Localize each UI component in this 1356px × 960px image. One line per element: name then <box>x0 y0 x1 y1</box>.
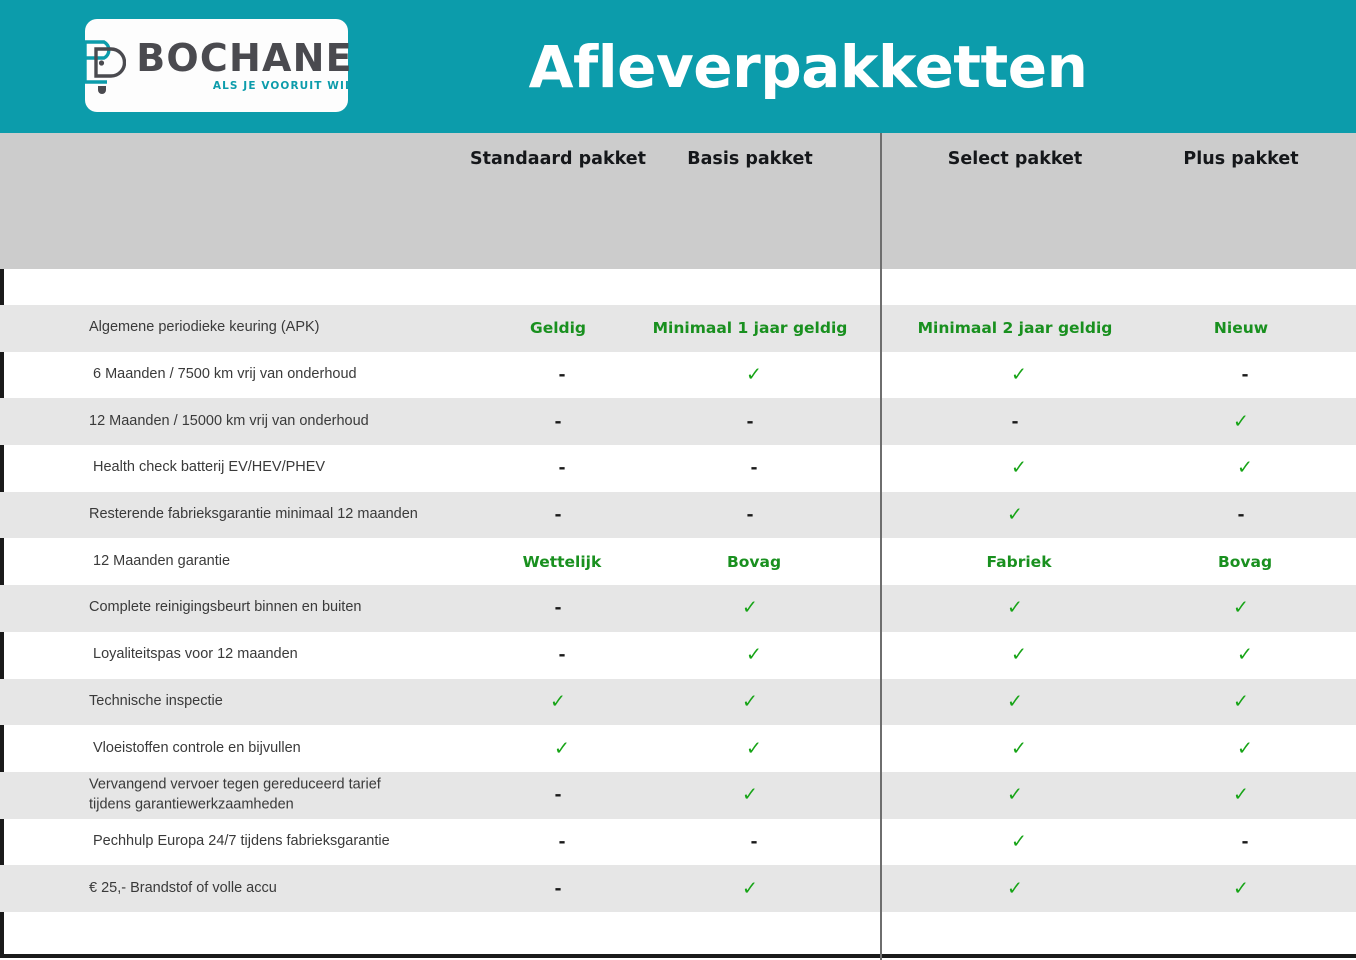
column-header-plus: Plus pakket <box>1130 149 1352 169</box>
check-icon: ✓ <box>646 879 854 898</box>
check-icon: ✓ <box>646 786 854 805</box>
row-label: Resterende fabrieksgarantie minimaal 12 … <box>89 505 418 525</box>
cell-value: Geldig <box>470 319 646 337</box>
check-icon: ✓ <box>646 599 854 618</box>
check-icon: ✓ <box>1134 459 1356 478</box>
not-included-dash: - <box>470 879 646 899</box>
check-icon: ✓ <box>1130 879 1352 898</box>
check-icon: ✓ <box>1130 786 1352 805</box>
page-header: BOCHANE ALS JE VOORUIT WIL Afleverpakket… <box>0 0 1356 133</box>
check-icon: ✓ <box>904 366 1134 385</box>
row-label: Health check batterij EV/HEV/PHEV <box>93 459 325 479</box>
table-row: 12 Maanden garantieWettelijkBovagFabriek… <box>0 538 1356 585</box>
not-included-dash: - <box>650 832 858 852</box>
row-label: Vloeistoffen controle en bijvullen <box>93 739 301 759</box>
table-row: Complete reinigingsbeurt binnen en buite… <box>0 585 1356 632</box>
check-icon: ✓ <box>1134 739 1356 758</box>
check-icon: ✓ <box>1130 412 1352 431</box>
column-header-standaard: Standaard pakket <box>470 149 646 169</box>
not-included-dash: - <box>646 412 854 432</box>
not-included-dash: - <box>470 598 646 618</box>
cell-value: Bovag <box>1134 553 1356 571</box>
check-icon: ✓ <box>650 739 858 758</box>
check-icon: ✓ <box>904 646 1134 665</box>
not-included-dash: - <box>470 412 646 432</box>
cell-value: Fabriek <box>904 553 1134 571</box>
column-header-basis: Basis pakket <box>646 149 854 169</box>
not-included-dash: - <box>646 505 854 525</box>
not-included-dash: - <box>474 365 650 385</box>
table-row: 6 Maanden / 7500 km vrij van onderhoud-✓… <box>0 352 1356 399</box>
row-label: 12 Maanden garantie <box>93 552 230 572</box>
not-included-dash: - <box>650 458 858 478</box>
row-label: Vervangend vervoer tegen gereduceerd tar… <box>89 776 381 815</box>
check-icon: ✓ <box>904 832 1134 851</box>
table-row: Health check batterij EV/HEV/PHEV--✓✓ <box>0 445 1356 492</box>
check-icon: ✓ <box>650 646 858 665</box>
row-label: € 25,- Brandstof of volle accu <box>89 879 277 899</box>
not-included-dash: - <box>470 785 646 805</box>
table-column-header: Standaard pakket Basis pakket Select pak… <box>0 133 1356 269</box>
column-header-select: Select pakket <box>900 149 1130 169</box>
row-label: Algemene periodieke keuring (APK) <box>89 319 320 339</box>
check-icon: ✓ <box>900 506 1130 525</box>
check-icon: ✓ <box>470 692 646 711</box>
table-row: Vervangend vervoer tegen gereduceerd tar… <box>0 772 1356 819</box>
row-label: Technische inspectie <box>89 692 223 712</box>
check-icon: ✓ <box>646 692 854 711</box>
table-row: Vloeistoffen controle en bijvullen✓✓✓✓ <box>0 725 1356 772</box>
row-label: Pechhulp Europa 24/7 tijdens fabrieksgar… <box>93 832 390 852</box>
package-comparison-table: Standaard pakket Basis pakket Select pak… <box>0 133 1356 958</box>
table-row: Loyaliteitspas voor 12 maanden-✓✓✓ <box>0 632 1356 679</box>
check-icon: ✓ <box>900 692 1130 711</box>
not-included-dash: - <box>474 458 650 478</box>
table-row: Resterende fabrieksgarantie minimaal 12 … <box>0 492 1356 539</box>
not-included-dash: - <box>474 645 650 665</box>
table-footer-row <box>0 912 1356 958</box>
table-row: Technische inspectie✓✓✓✓ <box>0 679 1356 726</box>
cell-value: Bovag <box>650 553 858 571</box>
row-label: Loyaliteitspas voor 12 maanden <box>93 645 298 665</box>
check-icon: ✓ <box>474 739 650 758</box>
not-included-dash: - <box>470 505 646 525</box>
header-spacer-row <box>0 269 1356 305</box>
table-row: Algemene periodieke keuring (APK)GeldigM… <box>0 305 1356 352</box>
check-icon: ✓ <box>904 739 1134 758</box>
check-icon: ✓ <box>900 786 1130 805</box>
table-body: Algemene periodieke keuring (APK)GeldigM… <box>0 305 1356 912</box>
not-included-dash: - <box>1130 505 1352 525</box>
table-row: 12 Maanden / 15000 km vrij van onderhoud… <box>0 398 1356 445</box>
row-label: 12 Maanden / 15000 km vrij van onderhoud <box>89 412 369 432</box>
check-icon: ✓ <box>900 879 1130 898</box>
check-icon: ✓ <box>1130 692 1352 711</box>
cell-value: Minimaal 1 jaar geldig <box>646 319 854 337</box>
cell-value: Minimaal 2 jaar geldig <box>900 319 1130 337</box>
check-icon: ✓ <box>1134 646 1356 665</box>
row-label: 6 Maanden / 7500 km vrij van onderhoud <box>93 365 357 385</box>
not-included-dash: - <box>1134 365 1356 385</box>
not-included-dash: - <box>1134 832 1356 852</box>
cell-value: Nieuw <box>1130 319 1352 337</box>
cell-value: Wettelijk <box>474 553 650 571</box>
not-included-dash: - <box>474 832 650 852</box>
check-icon: ✓ <box>904 459 1134 478</box>
check-icon: ✓ <box>650 366 858 385</box>
table-row: Pechhulp Europa 24/7 tijdens fabrieksgar… <box>0 819 1356 866</box>
check-icon: ✓ <box>900 599 1130 618</box>
check-icon: ✓ <box>1130 599 1352 618</box>
row-label: Complete reinigingsbeurt binnen en buite… <box>89 599 361 619</box>
column-group-divider <box>880 133 882 960</box>
table-row: € 25,- Brandstof of volle accu-✓✓✓ <box>0 865 1356 912</box>
page-title: Afleverpakketten <box>0 33 1356 101</box>
not-included-dash: - <box>900 412 1130 432</box>
